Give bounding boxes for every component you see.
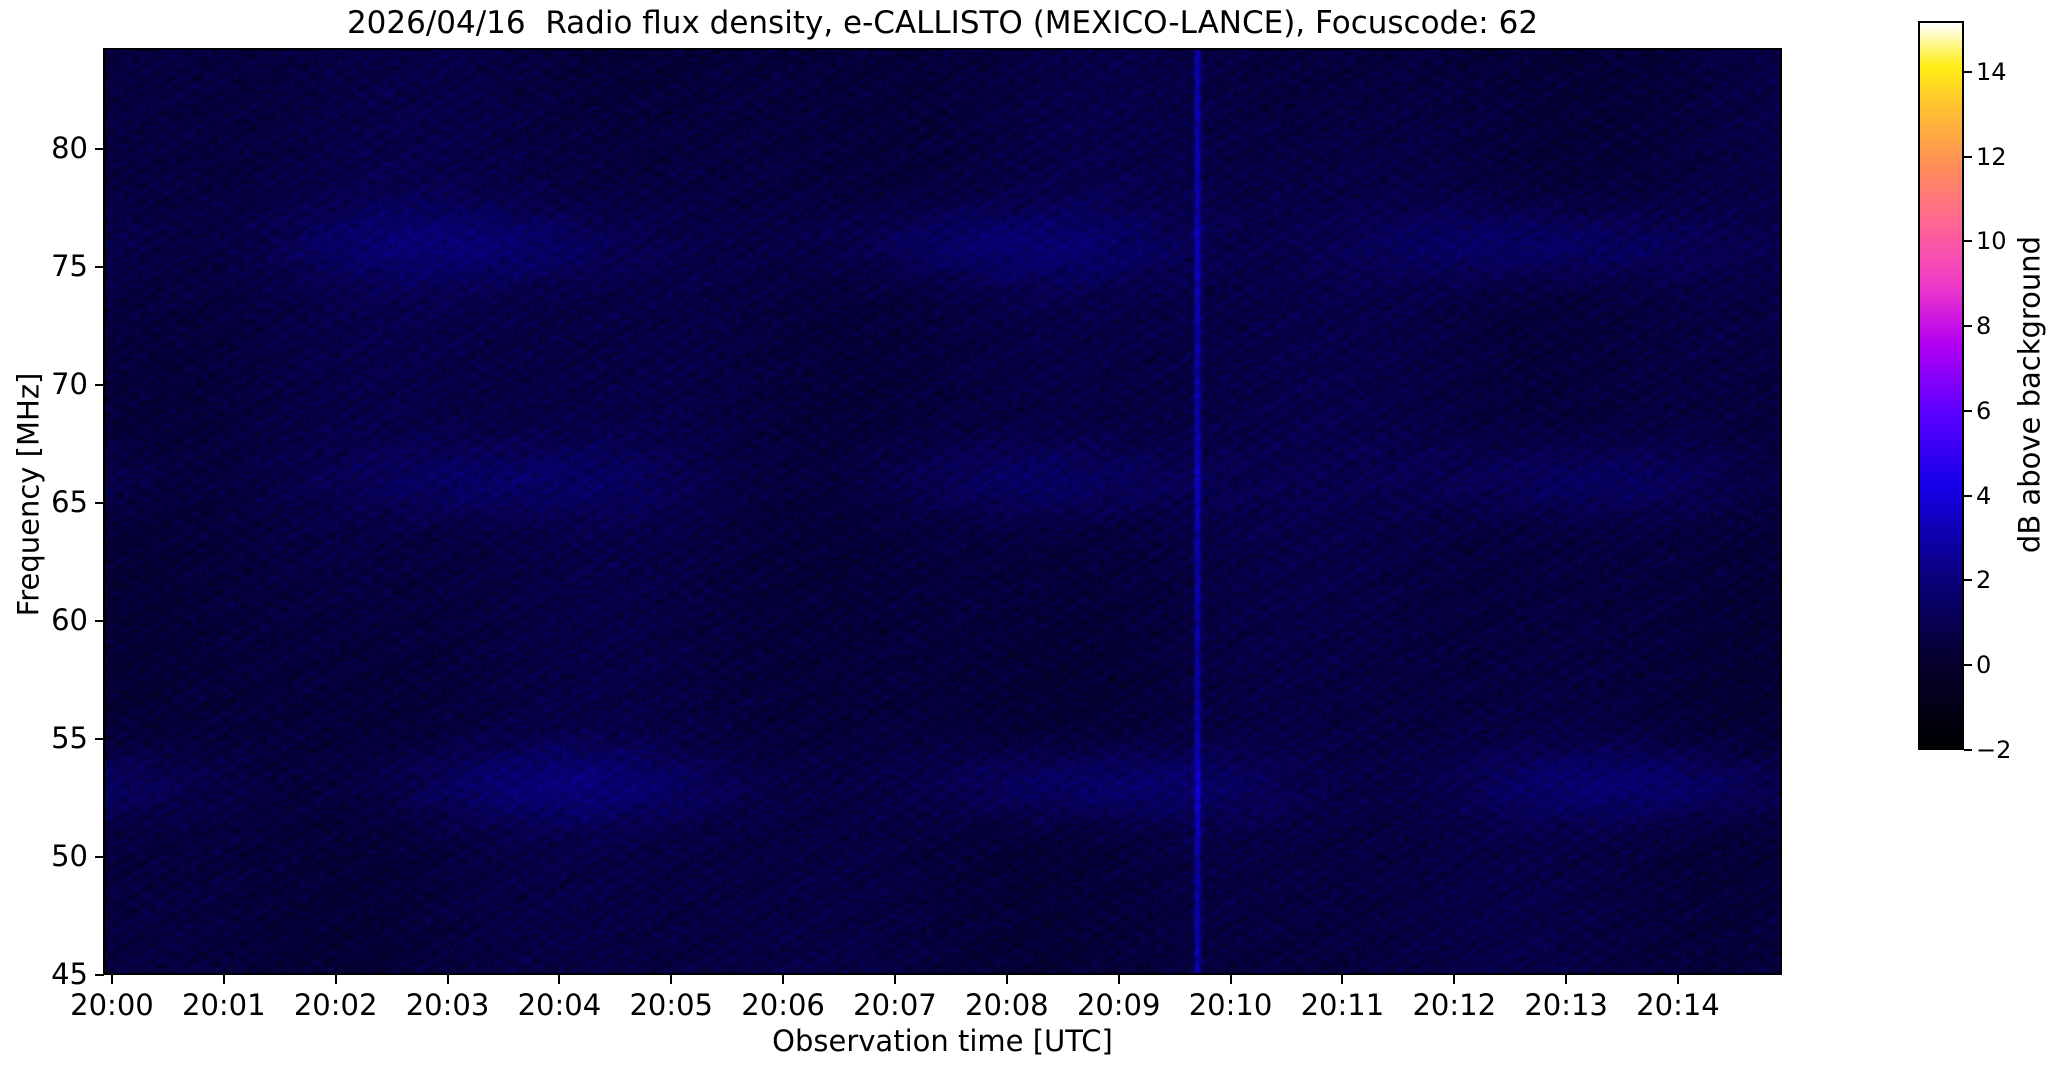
x-tick-mark [894,975,896,984]
colorbar-tick-label: 2 [1976,568,1991,592]
colorbar-gradient [1920,23,1962,748]
colorbar-tick-label: 12 [1976,145,2007,169]
colorbar-tick-mark [1964,325,1972,327]
y-tick-label: 80 [18,134,88,163]
x-tick-mark [670,975,672,984]
x-axis-label: Observation time [UTC] [103,1025,1782,1057]
colorbar-tick-mark [1964,156,1972,158]
spectrogram-image [105,50,1780,973]
colorbar-tick-label: 8 [1976,314,1991,338]
x-tick-mark [1565,975,1567,984]
x-tick-label: 20:01 [144,989,304,1021]
x-tick-mark [558,975,560,984]
x-tick-mark [111,975,113,984]
x-tick-mark [335,975,337,984]
spectrogram-axes [103,48,1782,975]
x-tick-mark [1341,975,1343,984]
y-axis-label: Frequency [MHz] [15,245,44,745]
x-tick-label: 20:12 [1374,989,1534,1021]
colorbar-tick-mark [1964,410,1972,412]
colorbar [1918,21,1964,750]
x-tick-label: 20:13 [1486,989,1646,1021]
colorbar-tick-mark [1964,749,1972,751]
x-tick-mark [447,975,449,984]
colorbar-label: dB above background [2016,145,2045,645]
x-tick-label: 20:14 [1598,989,1758,1021]
x-tick-mark [1006,975,1008,984]
colorbar-tick-mark [1964,664,1972,666]
x-tick-label: 20:10 [1151,989,1311,1021]
y-tick-label: 50 [18,842,88,871]
colorbar-tick-mark [1964,240,1972,242]
colorbar-tick-mark [1964,71,1972,73]
x-tick-label: 20:05 [591,989,751,1021]
figure-canvas: 2026/04/16 Radio flux density, e-CALLIST… [0,0,2047,1067]
x-tick-label: 20:08 [927,989,1087,1021]
colorbar-tick-label: 14 [1976,60,2007,84]
colorbar-tick-label: 0 [1976,653,1991,677]
x-tick-mark [1453,975,1455,984]
x-tick-mark [223,975,225,984]
x-tick-mark [1118,975,1120,984]
x-tick-mark [782,975,784,984]
x-tick-mark [1677,975,1679,984]
colorbar-tick-mark [1964,579,1972,581]
y-tick-label: 45 [18,960,88,989]
colorbar-tick-mark [1964,495,1972,497]
x-tick-label: 20:06 [703,989,863,1021]
colorbar-tick-label: 6 [1976,399,1991,423]
x-tick-label: 20:07 [815,989,975,1021]
x-tick-label: 20:03 [368,989,528,1021]
x-tick-label: 20:04 [479,989,639,1021]
colorbar-tick-label: 4 [1976,484,1991,508]
x-tick-mark [1230,975,1232,984]
x-tick-label: 20:11 [1262,989,1422,1021]
colorbar-tick-label: 10 [1976,229,2007,253]
x-tick-label: 20:00 [32,989,192,1021]
colorbar-tick-label: −2 [1976,738,2011,762]
page-title: 2026/04/16 Radio flux density, e-CALLIST… [103,4,1782,42]
x-tick-label: 20:02 [256,989,416,1021]
x-tick-label: 20:09 [1039,989,1199,1021]
